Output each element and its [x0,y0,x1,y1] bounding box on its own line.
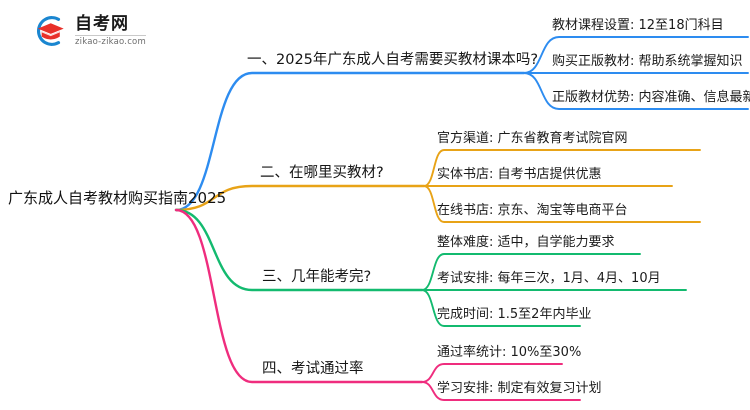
branch-node-3[interactable]: 三、几年能考完? [262,270,371,285]
leaf-node-2-3[interactable]: 在线书店: 京东、淘宝等电商平台 [437,204,628,217]
logo-title: 自考网 [75,16,146,34]
logo-wordmark: 自考网 zikao-zikao.com [75,15,146,48]
leaf-node-1-2[interactable]: 购买正版教材: 帮助系统掌握知识 [552,55,743,68]
leaf-node-4-2[interactable]: 学习安排: 制定有效复习计划 [437,382,602,395]
leaf-node-3-1[interactable]: 整体难度: 适中，自学能力要求 [437,236,615,249]
logo-divider [75,35,146,36]
site-logo: 自考网 zikao-zikao.com [30,12,146,50]
leaf-node-1-1[interactable]: 教材课程设置: 12至18门科目 [552,19,724,32]
leaf-node-4-1[interactable]: 通过率统计: 10%至30% [437,346,581,359]
root-node[interactable]: 广东成人自考教材购买指南2025 [8,191,226,206]
leaf-node-3-2[interactable]: 考试安排: 每年三次，1月、4月、10月 [437,272,661,285]
leaf-node-1-3[interactable]: 正版教材优势: 内容准确、信息最新 [552,91,750,104]
graduation-cap-icon [30,12,68,50]
branch-node-2[interactable]: 二、在哪里买教材? [260,166,384,181]
leaf-node-3-3[interactable]: 完成时间: 1.5至2年内毕业 [437,308,591,321]
branch-node-4[interactable]: 四、考试通过率 [262,362,364,377]
leaf-node-2-1[interactable]: 官方渠道: 广东省教育考试院官网 [437,132,628,145]
mindmap-canvas: 自考网 zikao-zikao.com 广东成人自考教材购买指南2025 一、2… [0,0,750,410]
branch-node-1[interactable]: 一、2025年广东成人自考需要买教材课本吗? [247,53,538,68]
logo-domain: zikao-zikao.com [75,38,146,47]
leaf-node-2-2[interactable]: 实体书店: 自考书店提供优惠 [437,168,602,181]
